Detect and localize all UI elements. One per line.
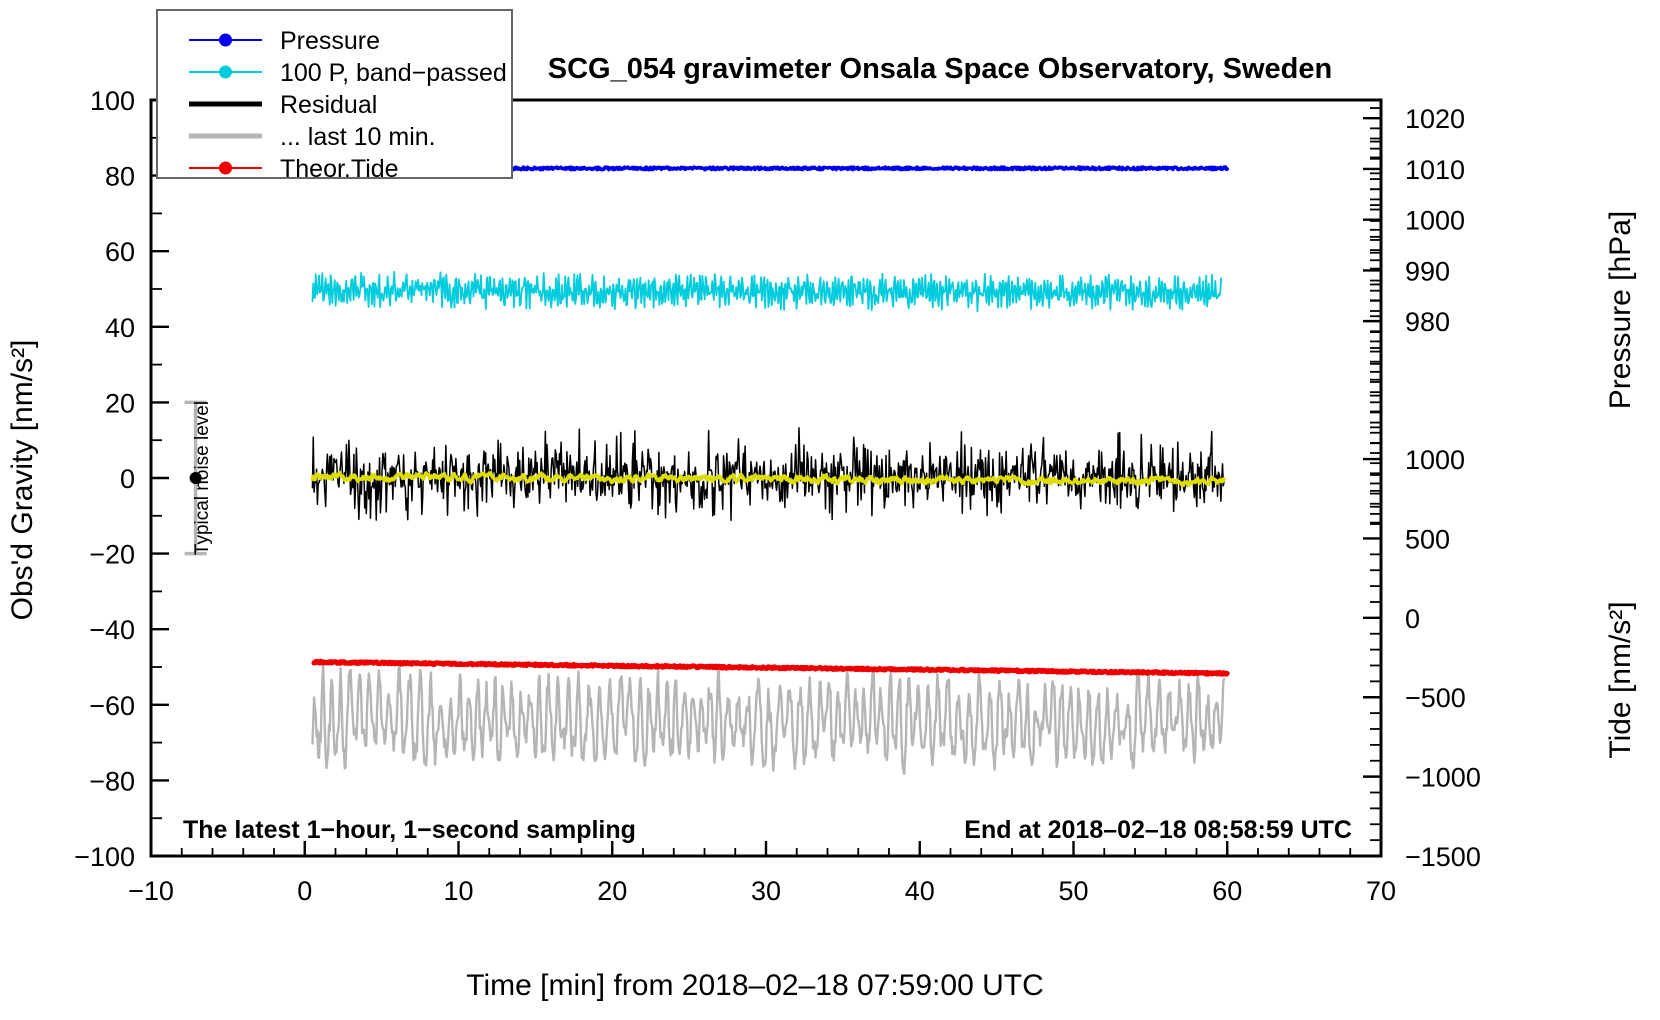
page-title: SCG_054 gravimeter Onsala Space Observat…: [548, 53, 1332, 85]
pressure-tick-label: 1020: [1405, 104, 1465, 134]
tide-axis-title: Tide [nm/s²]: [1604, 601, 1637, 758]
x-tick-label: 30: [751, 876, 781, 906]
x-tick-label: 20: [597, 876, 627, 906]
legend-item-label: Residual: [280, 91, 377, 119]
tide-tick-label: 0: [1405, 604, 1420, 634]
x-tick-label: 10: [443, 876, 473, 906]
legend-item-label: 100 P, band−passed: [280, 59, 507, 87]
x-tick-label: 70: [1366, 876, 1396, 906]
gravimeter-chart-figure: Typical noise level −10010203040506070−1…: [0, 0, 1660, 1020]
tide-tick-label: −1000: [1405, 763, 1481, 793]
y-tick-label: −40: [89, 615, 135, 645]
pressure-tick-label: 980: [1405, 307, 1450, 337]
noise-level-label: Typical noise level: [192, 401, 213, 555]
tide-tick-label: 1000: [1405, 445, 1465, 475]
x-tick-label: 50: [1058, 876, 1088, 906]
end-time-note: End at 2018–02–18 08:58:59 UTC: [964, 816, 1352, 844]
sampling-note: The latest 1−hour, 1−second sampling: [183, 816, 636, 844]
y-tick-label: 100: [90, 86, 135, 116]
y-tick-label: 60: [105, 237, 135, 267]
x-axis-title: Time [min] from 2018–02–18 07:59:00 UTC: [466, 969, 1044, 1002]
y-tick-label: 20: [105, 388, 135, 418]
x-tick-label: −10: [128, 876, 174, 906]
y-tick-label: −80: [89, 766, 135, 796]
legend: Pressure100 P, band−passedResidual... la…: [157, 10, 512, 183]
pressure-tick-label: 1010: [1405, 155, 1465, 185]
x-tick-label: 0: [297, 876, 312, 906]
pressure-tick-label: 990: [1405, 256, 1450, 286]
tide-tick-label: −500: [1405, 683, 1466, 713]
legend-marker-dot: [219, 66, 232, 79]
tide-tick-label: 500: [1405, 524, 1450, 554]
legend-marker-dot: [219, 162, 232, 175]
pressure-axis-title: Pressure [hPa]: [1604, 211, 1637, 409]
legend-item-label: Pressure: [280, 27, 380, 55]
legend-item-label: ... last 10 min.: [280, 123, 436, 151]
pressure-tick-label: 1000: [1405, 206, 1465, 236]
y-tick-label: −20: [89, 540, 135, 570]
x-tick-label: 40: [905, 876, 935, 906]
y-tick-label: 80: [105, 162, 135, 192]
y-tick-label: −60: [89, 691, 135, 721]
chart-canvas: Typical noise level −10010203040506070−1…: [0, 0, 1660, 1020]
legend-item-label: Theor.Tide: [280, 155, 399, 183]
y-tick-label: −100: [74, 842, 135, 872]
y-axis-title: Obs'd Gravity [nm/s²]: [6, 340, 39, 621]
tide-tick-label: −1500: [1405, 842, 1481, 872]
x-tick-label: 60: [1212, 876, 1242, 906]
y-tick-label: 40: [105, 313, 135, 343]
legend-marker-dot: [219, 34, 232, 47]
y-tick-label: 0: [120, 464, 135, 494]
